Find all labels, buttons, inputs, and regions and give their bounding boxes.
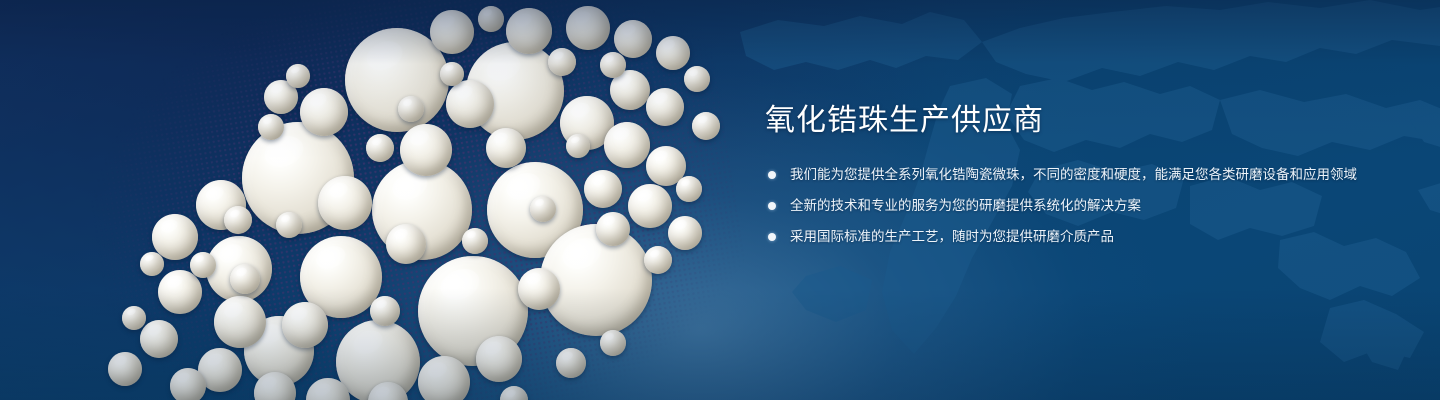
bullet-dot-icon [768, 202, 776, 210]
banner-text-block: 氧化锆珠生产供应商 我们能为您提供全系列氧化锆陶瓷微珠，不同的密度和硬度，能满足… [765, 104, 1385, 248]
hero-banner: 氧化锆珠生产供应商 我们能为您提供全系列氧化锆陶瓷微珠，不同的密度和硬度，能满足… [0, 0, 1440, 400]
banner-headline: 氧化锆珠生产供应商 [765, 104, 1385, 138]
list-item: 全新的技术和专业的服务为您的研磨提供系统化的解决方案 [765, 195, 1385, 217]
feature-text: 全新的技术和专业的服务为您的研磨提供系统化的解决方案 [790, 195, 1385, 217]
list-item: 采用国际标准的生产工艺，随时为您提供研磨介质产品 [765, 226, 1385, 248]
bullet-dot-icon [768, 233, 776, 241]
feature-text: 采用国际标准的生产工艺，随时为您提供研磨介质产品 [790, 226, 1385, 248]
feature-text: 我们能为您提供全系列氧化锆陶瓷微珠，不同的密度和硬度，能满足您各类研磨设备和应用… [790, 164, 1385, 186]
list-item: 我们能为您提供全系列氧化锆陶瓷微珠，不同的密度和硬度，能满足您各类研磨设备和应用… [765, 164, 1385, 186]
bullet-dot-icon [768, 171, 776, 179]
feature-list: 我们能为您提供全系列氧化锆陶瓷微珠，不同的密度和硬度，能满足您各类研磨设备和应用… [765, 164, 1385, 248]
